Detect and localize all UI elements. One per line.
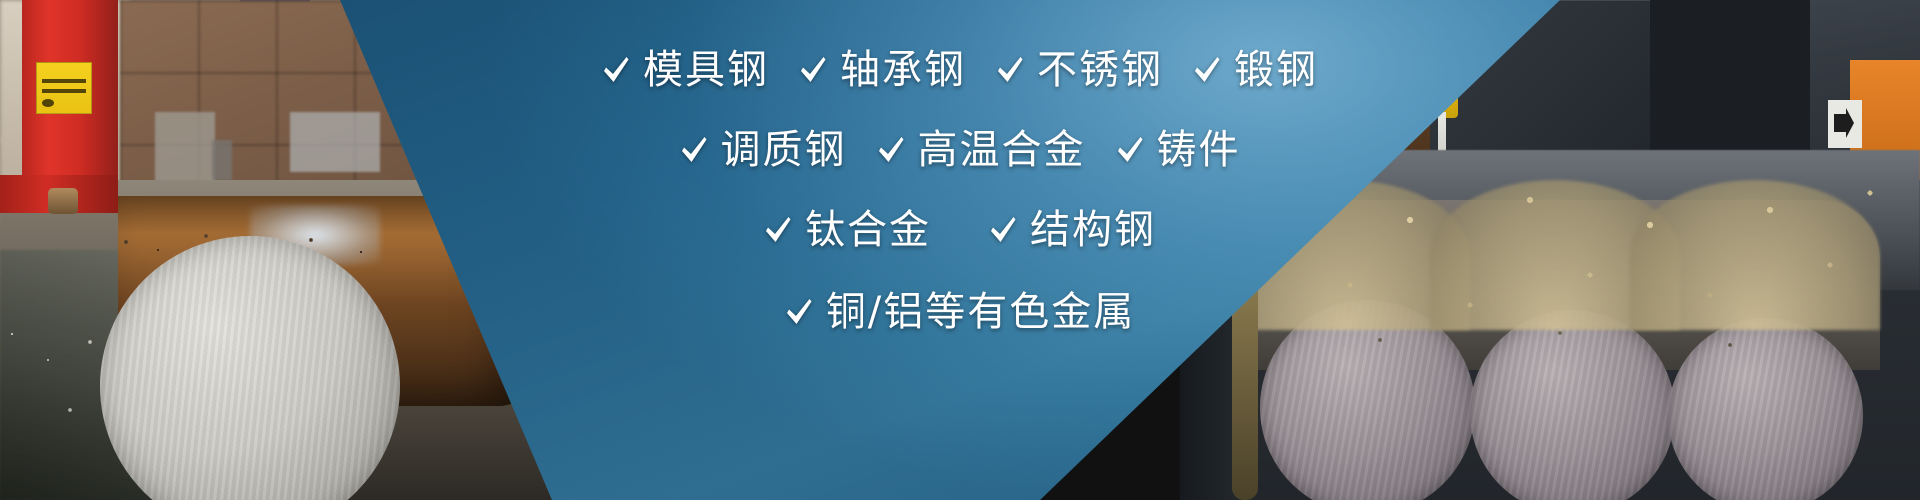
feature-label: 调质钢 [721,130,847,170]
check-icon [1116,135,1144,165]
feature-list: 模具钢 轴承钢 不锈钢 锻钢 [0,0,1920,500]
feature-item: 不锈钢 [996,50,1163,90]
check-icon [989,215,1017,245]
feature-row: 调质钢 高温合金 铸件 [680,130,1241,170]
feature-item: 结构钢 [989,210,1156,250]
hero-banner: 模具钢 轴承钢 不锈钢 锻钢 [0,0,1920,500]
check-icon [680,135,708,165]
feature-item: 调质钢 [680,130,847,170]
feature-item: 高温合金 [877,130,1086,170]
check-icon [799,55,827,85]
feature-label: 模具钢 [643,50,769,90]
check-icon [1193,55,1221,85]
feature-item: 轴承钢 [799,50,966,90]
feature-row: 钛合金 结构钢 [764,210,1156,250]
feature-item: 铸件 [1116,130,1241,170]
feature-label: 铜/铝等有色金属 [826,292,1135,332]
feature-label: 钛合金 [805,210,931,250]
feature-label: 锻钢 [1234,50,1318,90]
check-icon [764,215,792,245]
feature-item: 钛合金 [764,210,931,250]
feature-item: 锻钢 [1193,50,1318,90]
feature-label: 不锈钢 [1037,50,1163,90]
check-icon [785,297,813,327]
feature-item: 铜/铝等有色金属 [785,292,1135,332]
check-icon [996,55,1024,85]
feature-label: 轴承钢 [840,50,966,90]
feature-label: 铸件 [1157,130,1241,170]
feature-row: 模具钢 轴承钢 不锈钢 锻钢 [602,50,1318,90]
feature-row: 铜/铝等有色金属 [785,292,1135,332]
feature-label: 结构钢 [1030,210,1156,250]
check-icon [877,135,905,165]
feature-item: 模具钢 [602,50,769,90]
feature-label: 高温合金 [918,130,1086,170]
check-icon [602,55,630,85]
